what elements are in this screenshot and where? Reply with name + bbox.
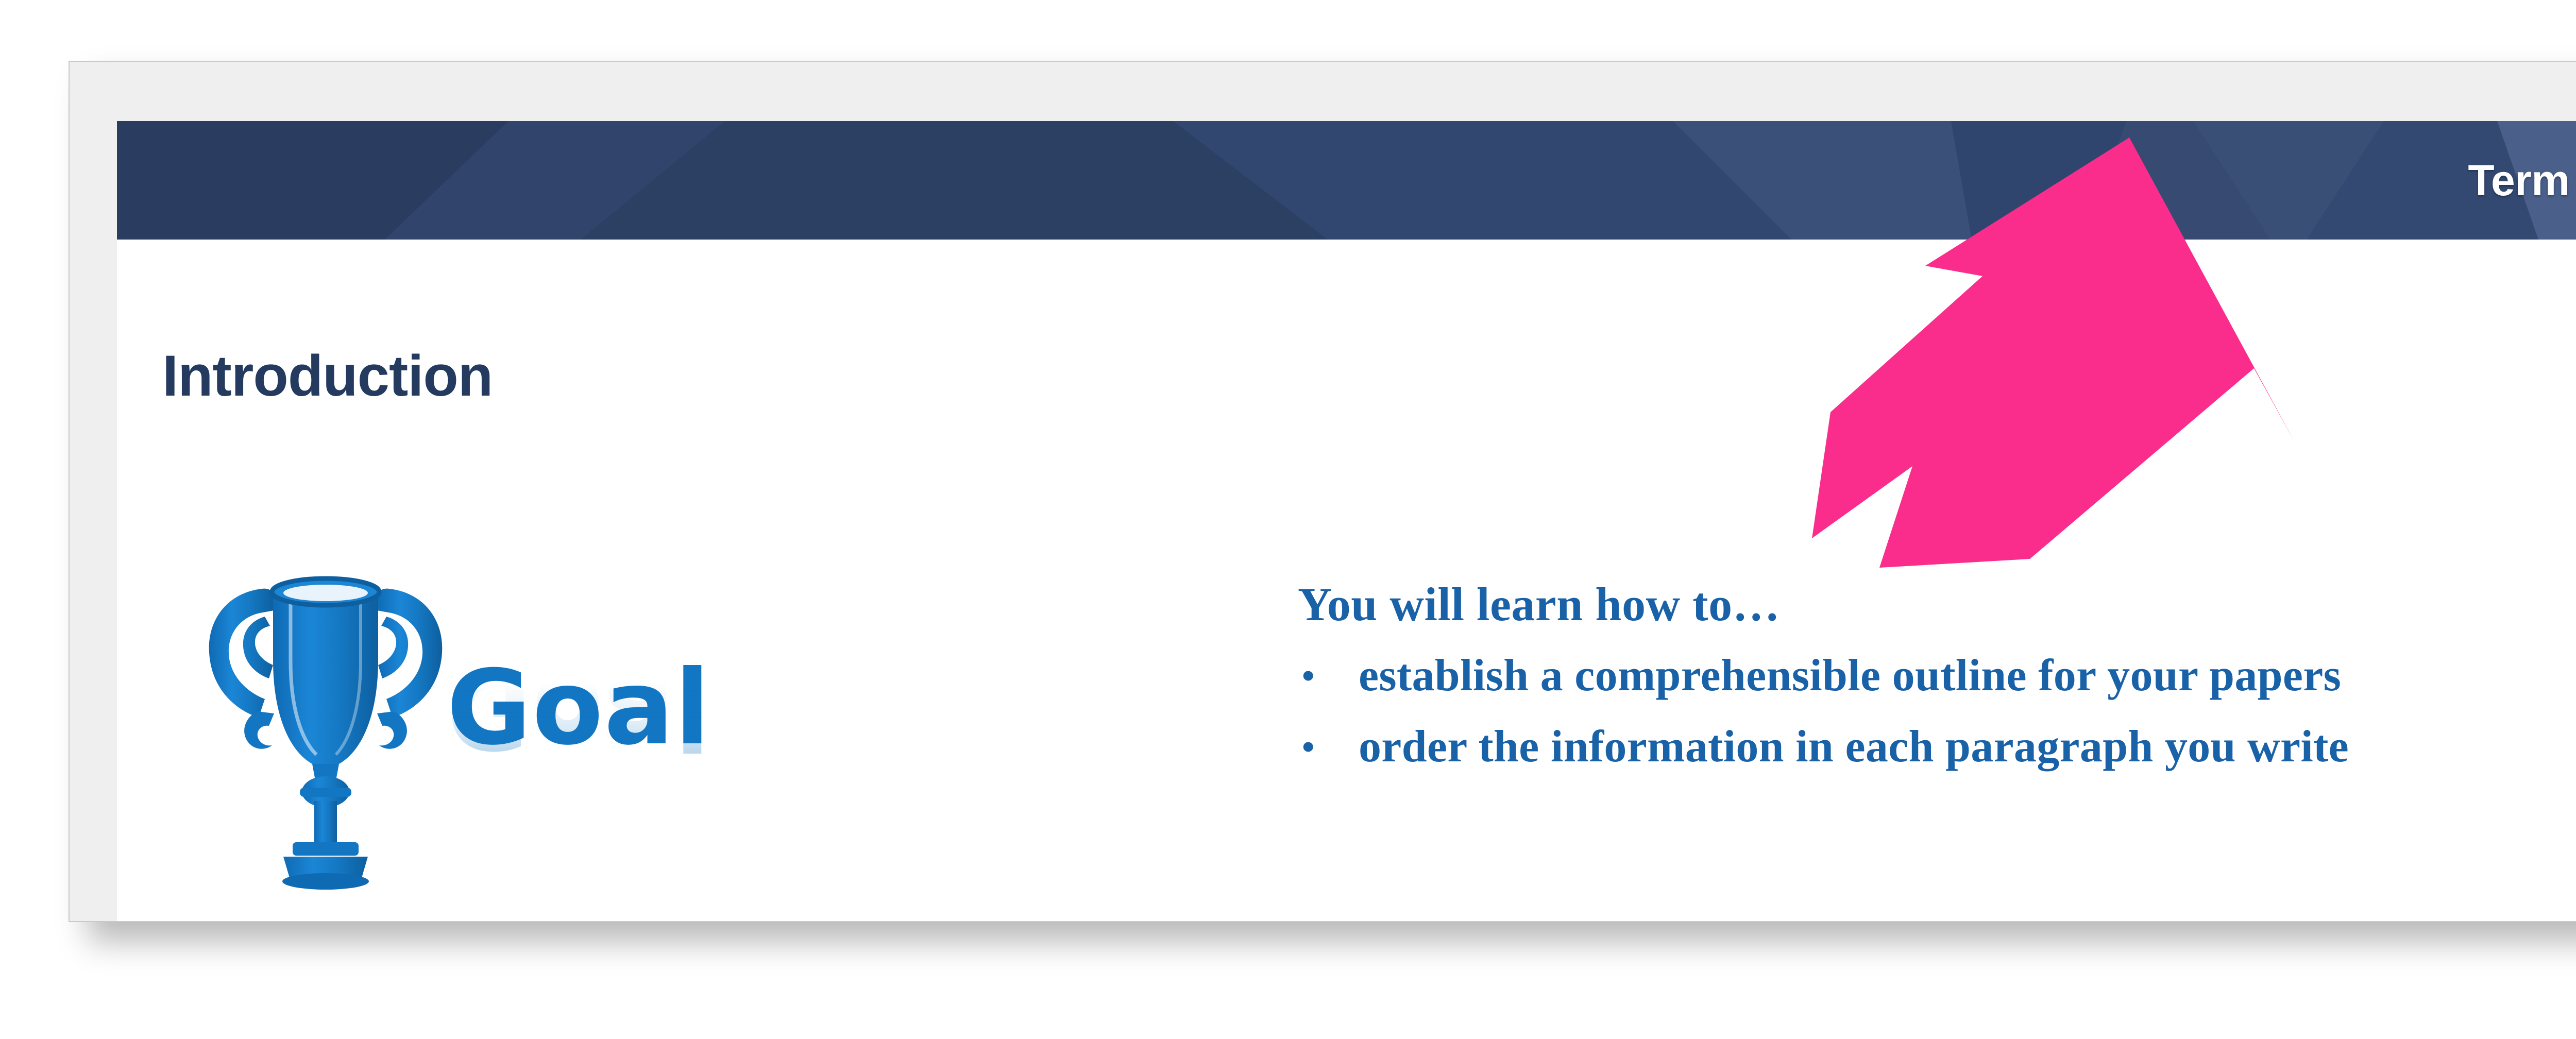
learning-objectives-block: You will learn how to… • establish a com… [1298, 580, 2576, 794]
header-polygon-pattern [117, 121, 2576, 240]
objective-text: order the information in each paragraph … [1359, 723, 2349, 771]
objectives-heading: You will learn how to… [1298, 580, 2576, 629]
objective-list-item: • establish a comprehensible outline for… [1298, 652, 2576, 700]
trophy-icon [197, 559, 454, 914]
objective-text: establish a comprehensible outline for y… [1359, 652, 2341, 700]
slide-card-frame: Term papers: structures Introduction [69, 61, 2576, 922]
goal-graphic-block: Goal Goal [148, 559, 952, 919]
goal-wordmark-group: Goal Goal [447, 657, 910, 878]
header-title-text: Term papers: structures [2468, 156, 2576, 206]
slide-header-bar: Term papers: structures [117, 121, 2576, 240]
goal-wordmark-reflection: Goal [447, 659, 910, 762]
slide-content-area: Introduction [117, 240, 2576, 921]
bullet-dot-icon: • [1298, 652, 1359, 693]
page-title: Introduction [162, 343, 493, 409]
bullet-dot-icon: • [1298, 723, 1359, 764]
header-title-group[interactable]: Term papers: structures [2468, 121, 2576, 240]
objective-list-item: • order the information in each paragrap… [1298, 723, 2576, 771]
